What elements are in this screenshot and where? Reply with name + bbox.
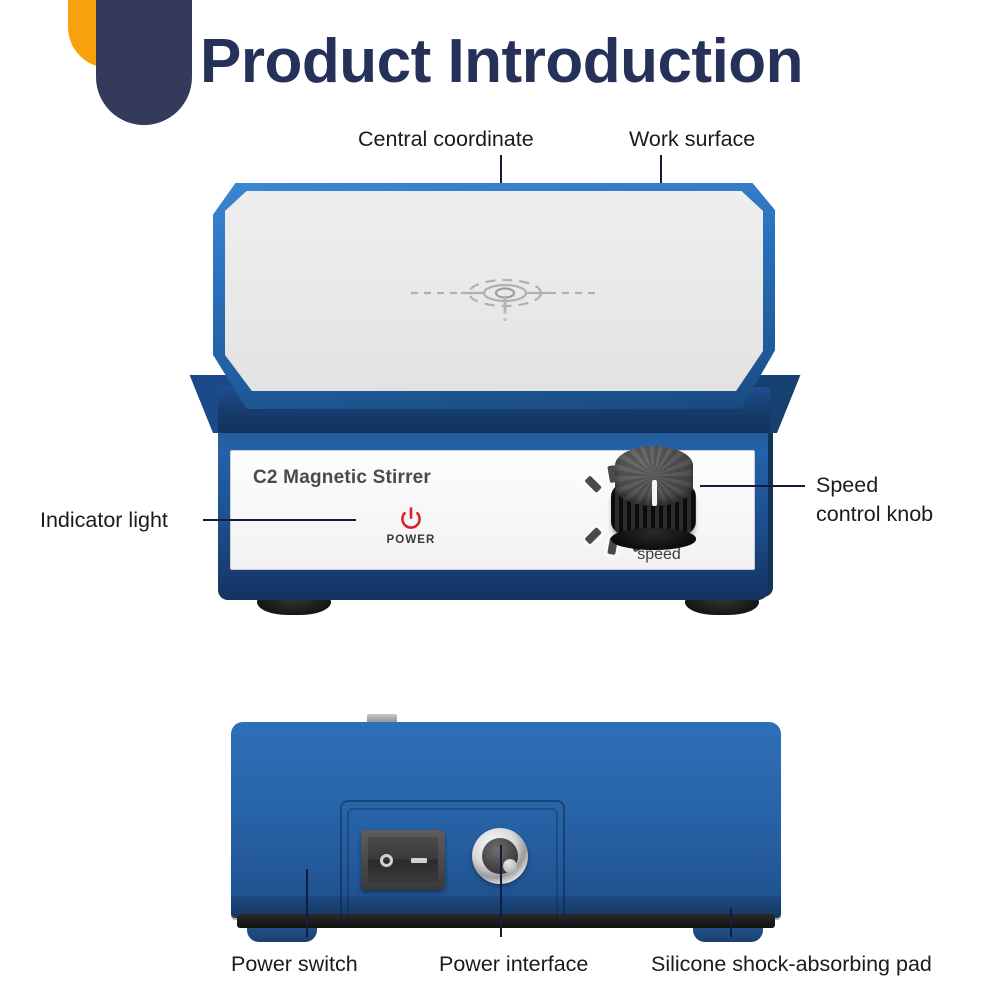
power-switch[interactable] bbox=[361, 830, 445, 890]
speed-control-knob[interactable]: speed bbox=[586, 442, 731, 582]
stirrer-front-view: C2 Magnetic Stirrer POWER bbox=[195, 175, 795, 685]
switch-on-symbol bbox=[411, 858, 427, 863]
callout-central-coordinate: Central coordinate bbox=[358, 126, 534, 152]
leader-line-power-switch bbox=[306, 869, 308, 937]
leader-line-silicone-pad bbox=[730, 908, 732, 937]
knob-pointer-mark bbox=[652, 480, 657, 506]
leader-line-power-interface bbox=[500, 845, 502, 937]
callout-power-interface: Power interface bbox=[439, 951, 588, 977]
callout-indicator-light: Indicator light bbox=[40, 507, 168, 533]
leader-line-indicator-light bbox=[203, 519, 356, 521]
power-indicator-group: POWER bbox=[381, 506, 441, 546]
model-name-label: C2 Magnetic Stirrer bbox=[253, 467, 431, 489]
callout-work-surface: Work surface bbox=[629, 126, 755, 152]
power-text-label: POWER bbox=[381, 534, 441, 546]
jack-center-pin bbox=[503, 859, 517, 873]
header: Product Introduction bbox=[0, 0, 1000, 130]
callout-speed-control-knob-line1: Speed bbox=[816, 472, 878, 498]
stirrer-rear-view bbox=[195, 700, 815, 930]
power-switch-rocker[interactable] bbox=[368, 837, 438, 883]
callout-silicone-pad: Silicone shock-absorbing pad bbox=[651, 951, 932, 977]
central-coordinate-marker bbox=[405, 263, 605, 323]
callout-speed-control-knob-line2: control knob bbox=[816, 501, 933, 527]
control-panel: C2 Magnetic Stirrer POWER bbox=[230, 450, 755, 570]
decoration-navy-shape bbox=[96, 0, 192, 125]
leader-line-speed-knob bbox=[700, 485, 805, 487]
switch-off-symbol bbox=[380, 854, 393, 867]
callout-power-switch: Power switch bbox=[231, 951, 358, 977]
knob-label: speed bbox=[619, 546, 699, 564]
page-title: Product Introduction bbox=[200, 26, 803, 97]
power-icon bbox=[381, 506, 441, 532]
